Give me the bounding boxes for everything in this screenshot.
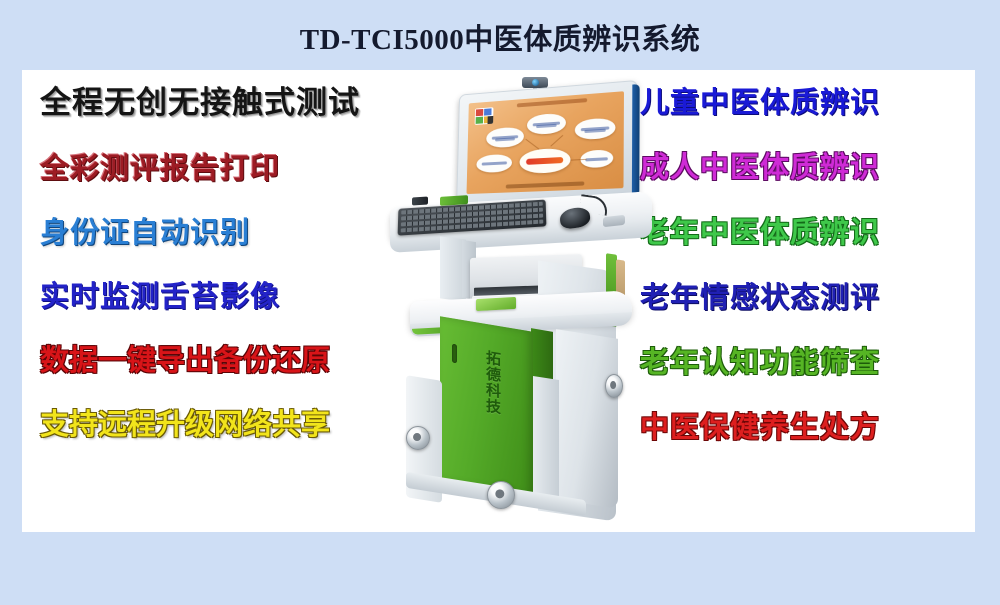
cart-base-middle — [533, 376, 559, 506]
caster-wheel — [605, 374, 621, 396]
printed-report-sheet — [476, 297, 516, 311]
software-logo-icon — [475, 107, 494, 125]
feature-item: 全彩测评报告打印 — [40, 154, 430, 183]
page-title: TD-TCI5000中医体质辨识系统 — [0, 16, 1000, 58]
feature-item: 老年中医体质辨识 — [640, 218, 970, 247]
tray-accent-dark — [412, 197, 428, 206]
feature-item: 成人中医体质辨识 — [640, 153, 970, 182]
screen-bubble — [486, 126, 524, 148]
feature-item: 老年情感状态测评 — [640, 283, 970, 312]
feature-list-right: 儿童中医体质辨识 成人中医体质辨识 老年中医体质辨识 老年情感状态测评 老年认知… — [640, 88, 970, 478]
screen-app-title — [517, 98, 587, 107]
screen-bubble — [476, 154, 512, 173]
device-illustration: 拓德科技 — [388, 78, 660, 530]
feature-item: 老年认知功能筛查 — [640, 348, 970, 377]
feature-item: 全程无创无接触式测试 — [40, 88, 430, 119]
cabinet-brand-text: 拓德科技 — [480, 348, 500, 415]
feature-item: 数据一键导出备份还原 — [40, 346, 430, 375]
webcam-lens-icon — [532, 79, 539, 86]
monitor — [456, 80, 637, 208]
feature-item: 身份证自动识别 — [40, 218, 430, 247]
screen-footer-text — [506, 181, 585, 188]
caster-wheel — [406, 426, 428, 448]
feature-item: 儿童中医体质辨识 — [640, 88, 970, 117]
feature-item: 实时监测舌苔影像 — [40, 282, 430, 311]
monitor-screen — [467, 91, 624, 194]
screen-connector — [550, 135, 563, 147]
monitor-bezel-edge — [632, 84, 640, 197]
feature-item: 支持远程升级网络共享 — [40, 410, 430, 439]
screen-bubble — [527, 113, 566, 135]
feature-list-left: 全程无创无接触式测试 全彩测评报告打印 身份证自动识别 实时监测舌苔影像 数据一… — [40, 88, 430, 474]
screen-connector — [525, 139, 539, 150]
screen-center-button — [519, 148, 570, 175]
cart-base-right — [556, 329, 618, 509]
cabinet-handle — [452, 344, 457, 364]
screen-bubble — [575, 117, 616, 140]
feature-item: 中医保健养生处方 — [640, 413, 970, 442]
caster-wheel — [487, 481, 513, 507]
poster-root: TD-TCI5000中医体质辨识系统 全程无创无接触式测试 全彩测评报告打印 身… — [0, 0, 1000, 605]
